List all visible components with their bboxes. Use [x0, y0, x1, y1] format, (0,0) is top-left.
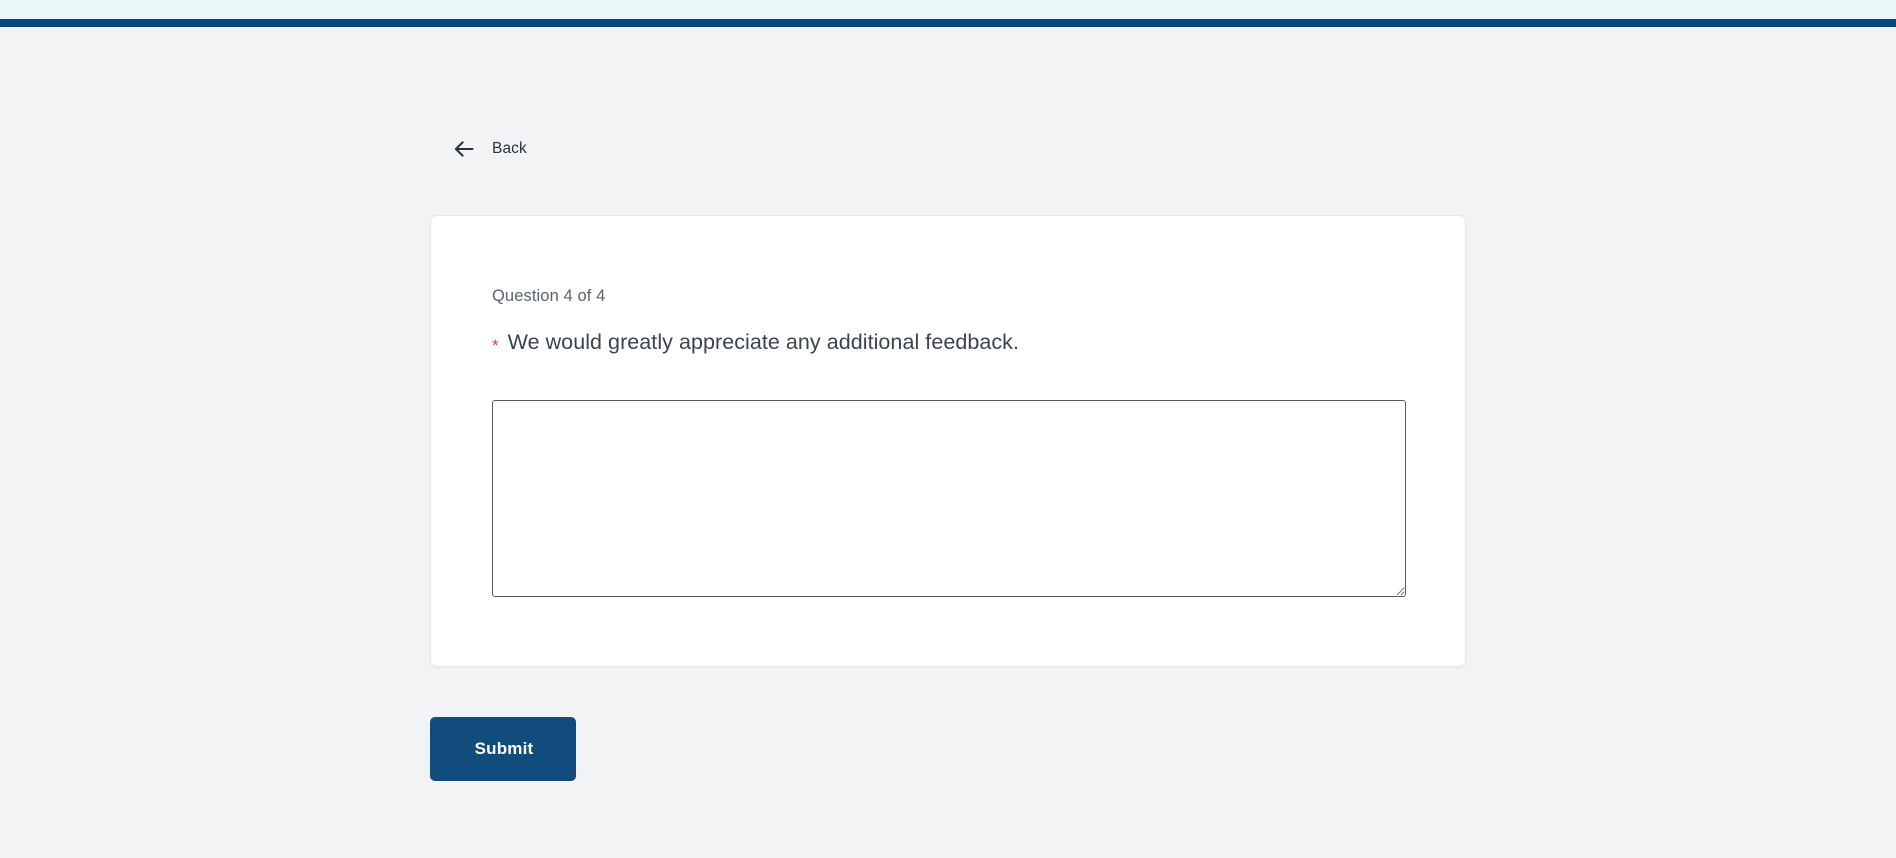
feedback-textarea[interactable] — [492, 400, 1406, 597]
top-navy-bar — [0, 19, 1896, 27]
arrow-left-icon — [452, 137, 476, 161]
page-surface: Back Question 4 of 4 * We would greatly … — [0, 27, 1896, 858]
back-link[interactable]: Back — [452, 137, 527, 161]
question-counter: Question 4 of 4 — [492, 288, 605, 305]
question-prompt-text: We would greatly appreciate any addition… — [508, 332, 1019, 354]
required-asterisk: * — [492, 337, 499, 354]
top-accent-band — [0, 0, 1896, 19]
back-label: Back — [492, 141, 527, 157]
question-prompt: * We would greatly appreciate any additi… — [492, 332, 1019, 354]
submit-button[interactable]: Submit — [430, 717, 576, 781]
question-card: Question 4 of 4 * We would greatly appre… — [430, 215, 1466, 667]
